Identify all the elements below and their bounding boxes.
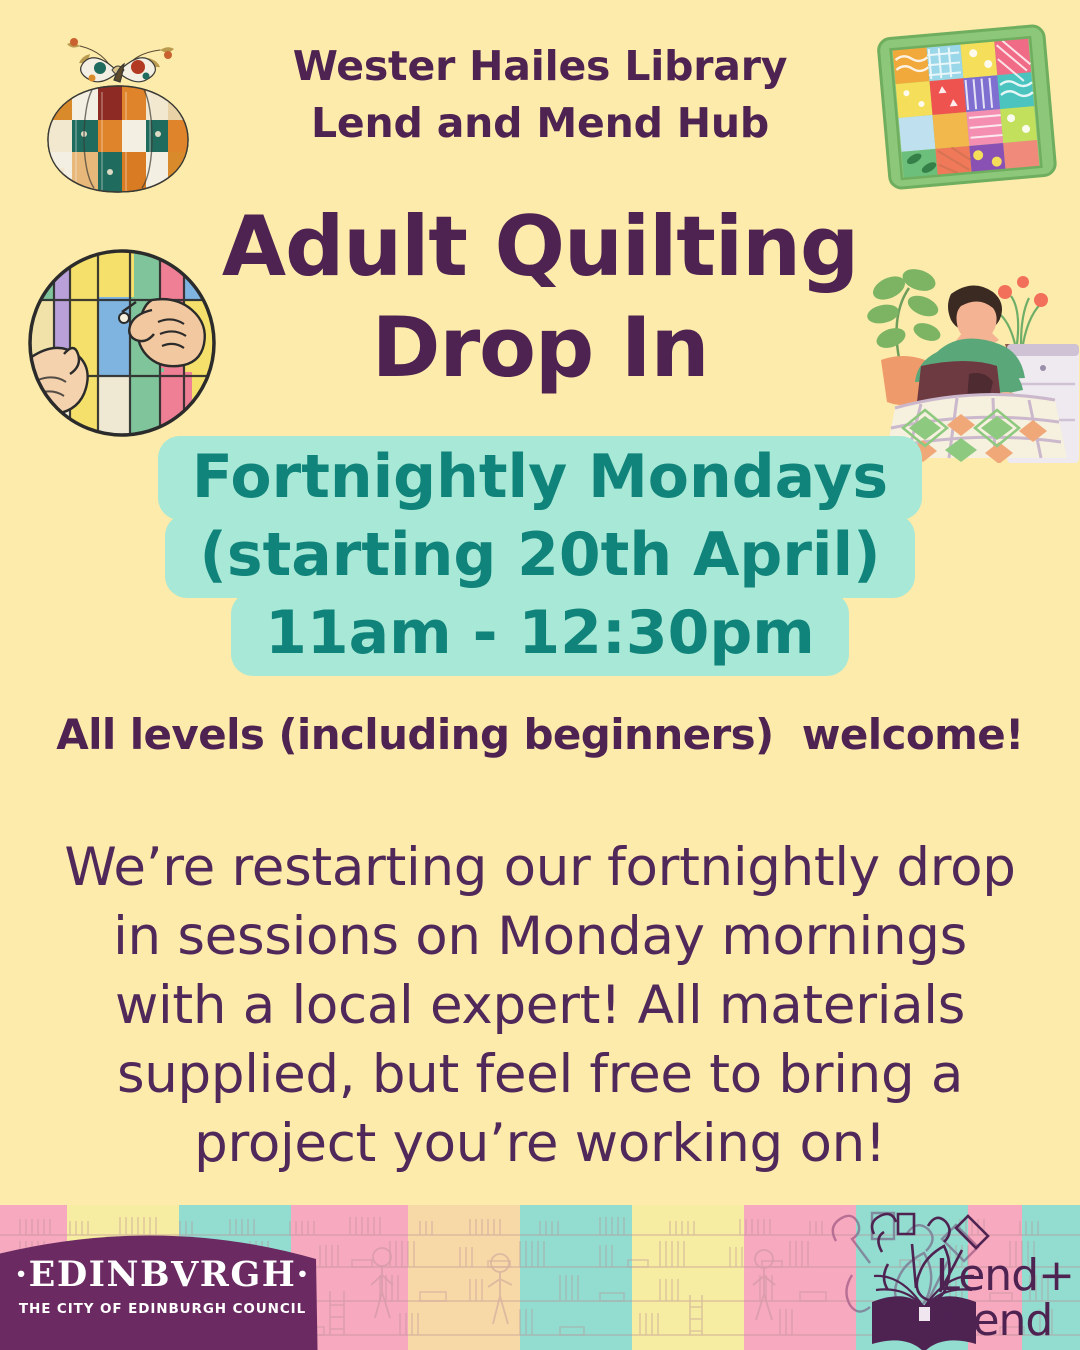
- lend-mend-logo-text: Lend+ Mend: [936, 1254, 1075, 1344]
- body-paragraph: We’re restarting our fortnightly drop in…: [52, 834, 1028, 1178]
- title-line-1: Adult Quilting: [0, 196, 1080, 297]
- edinburgh-council-logo: [0, 1217, 331, 1350]
- header-line-2: Lend and Mend Hub: [0, 95, 1080, 152]
- schedule-line-2: (starting 20th April): [165, 514, 914, 598]
- schedule-line-1: Fortnightly Mondays: [158, 436, 922, 520]
- header-block: Wester Hailes Library Lend and Mend Hub: [0, 38, 1080, 151]
- title-line-2: Drop In: [0, 297, 1080, 398]
- page-title: Adult Quilting Drop In: [0, 196, 1080, 399]
- lend-mend-line-1: Lend+: [936, 1254, 1075, 1299]
- poster-canvas: Wester Hailes Library Lend and Mend Hub …: [0, 0, 1080, 1350]
- header-line-1: Wester Hailes Library: [0, 38, 1080, 95]
- all-levels-subtitle: All levels (including beginners) welcome…: [0, 712, 1080, 758]
- schedule-line-3: 11am - 12:30pm: [231, 592, 849, 676]
- lend-mend-line-2: Mend: [936, 1299, 1075, 1344]
- footer: ·EDINBVRGH· THE CITY OF EDINBURGH COUNCI…: [0, 1205, 1080, 1350]
- schedule-highlight-block: Fortnightly Mondays (starting 20th April…: [0, 436, 1080, 676]
